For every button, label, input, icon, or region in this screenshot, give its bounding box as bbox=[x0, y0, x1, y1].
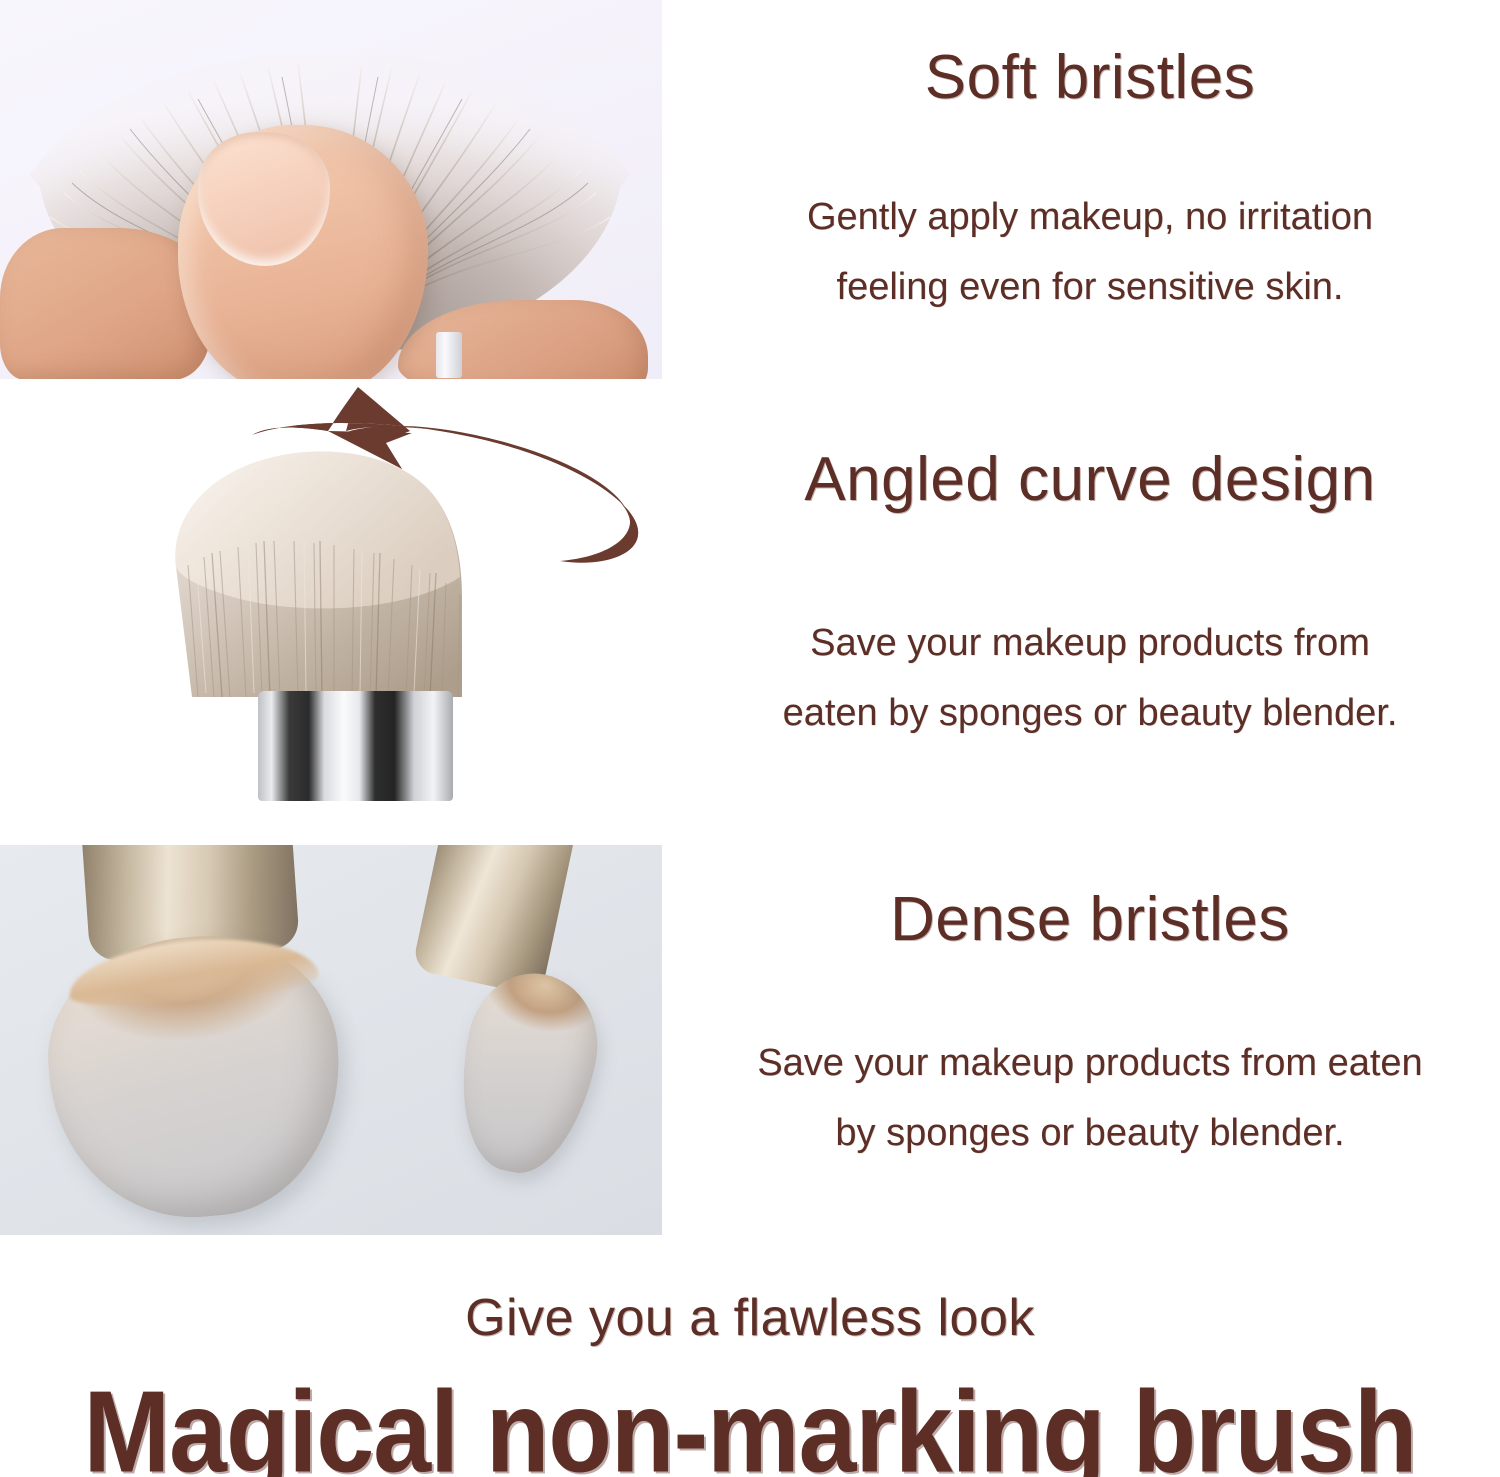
body-line: eaten by sponges or beauty blender. bbox=[710, 678, 1470, 748]
section-body-angled-curve-design: Save your makeup products from eaten by … bbox=[710, 608, 1470, 749]
brush-ferrule-tip bbox=[436, 332, 462, 378]
body-line: Gently apply makeup, no irritation bbox=[710, 182, 1470, 252]
two-brushes-comparison-photo bbox=[0, 845, 662, 1235]
small-brush-handle bbox=[412, 845, 581, 997]
section-heading-angled-curve-design: Angled curve design bbox=[680, 444, 1500, 515]
footer-title: Magical non-marking brush bbox=[0, 1366, 1500, 1477]
section-body-dense-bristles: Save your makeup products from eaten by … bbox=[690, 1028, 1490, 1169]
section-heading-soft-bristles: Soft bristles bbox=[680, 42, 1500, 113]
thumb-pressing-brush-bristles-photo bbox=[0, 0, 662, 379]
footer-subtitle: Give you a flawless look bbox=[0, 1288, 1500, 1348]
section-body-soft-bristles: Gently apply makeup, no irritation feeli… bbox=[710, 182, 1470, 323]
body-line: Save your makeup products from eaten bbox=[690, 1028, 1490, 1098]
brush-chrome-ferrule bbox=[258, 691, 453, 801]
section-heading-dense-bristles: Dense bristles bbox=[680, 884, 1500, 955]
body-line: Save your makeup products from bbox=[710, 608, 1470, 678]
body-line: by sponges or beauty blender. bbox=[690, 1098, 1490, 1168]
body-line: feeling even for sensitive skin. bbox=[710, 252, 1470, 322]
curved-rotation-arrow bbox=[250, 379, 680, 569]
product-infographic: Soft bristles Gently apply makeup, no ir… bbox=[0, 0, 1500, 1477]
small-brush-head bbox=[443, 962, 612, 1185]
angled-kabuki-brush-photo bbox=[0, 379, 680, 845]
